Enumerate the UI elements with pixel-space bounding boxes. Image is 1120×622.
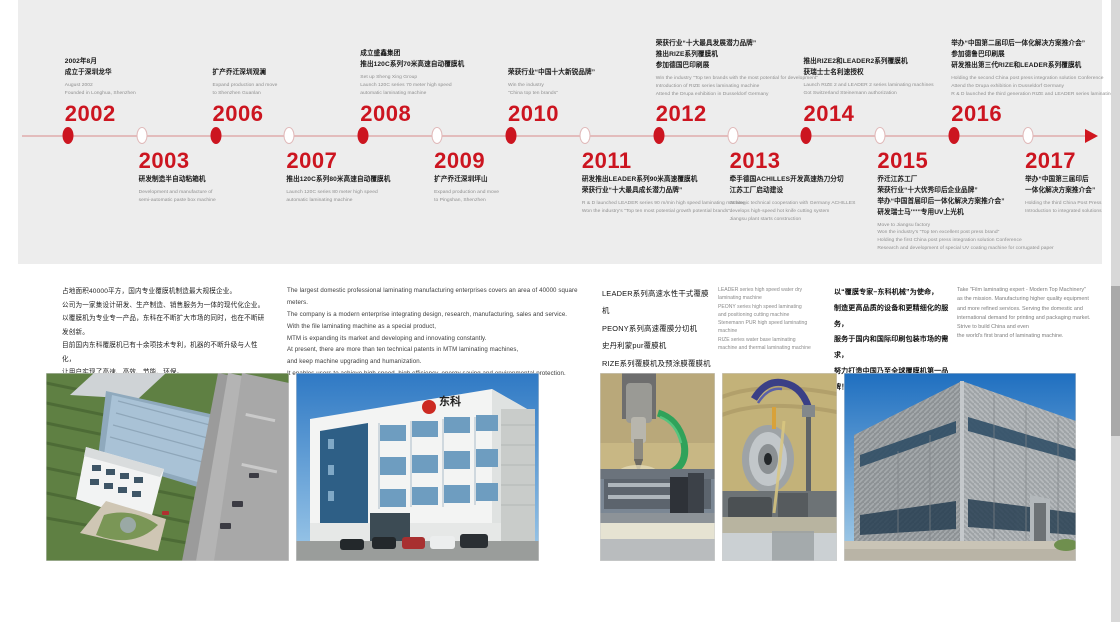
timeline-year-label: 2016 xyxy=(951,103,1120,125)
timeline-dot-2009[interactable] xyxy=(432,127,443,144)
timeline-arrow-icon xyxy=(1085,129,1098,143)
timeline-year-label: 2017 xyxy=(1025,150,1120,172)
timeline-en-line: Holding the first China post press integ… xyxy=(877,237,1087,245)
timeline-cn-line: 参加德鲁巴印刷展 xyxy=(951,50,1120,61)
office-building-photo: 东科 xyxy=(296,373,539,561)
band-left-margin xyxy=(0,0,18,264)
content-area: 占地面积40000平方，国内专业覆膜机制造最大规模企业。公司为一家集设计研发、生… xyxy=(0,264,1120,622)
timeline-en-line: Won the industry's "Top ten excellent po… xyxy=(877,229,1087,237)
cnc-milling-photo xyxy=(600,373,715,561)
about-en-line: MTM is expanding its market and developi… xyxy=(287,333,587,345)
timeline-en-line: Move to Jiangsu factory xyxy=(877,222,1087,230)
grinding-machine-photo xyxy=(722,373,837,561)
timeline-cn-line: 2002年8月 xyxy=(65,57,275,68)
timeline-axis xyxy=(22,135,1085,137)
timeline-entry-en: Holding the third China Post PressIntrod… xyxy=(1025,200,1120,216)
company-profile-page: 2002年8月成立于深圳龙华August 2002Founded in Long… xyxy=(0,0,1120,622)
timeline-en-line: Holding the second China post press inte… xyxy=(951,75,1120,83)
products-en-line: LEADER series high speed water dry xyxy=(718,286,823,294)
timeline-dot-2014[interactable] xyxy=(801,127,812,144)
timeline-entry-cn: 举办“中国第二届印后一体化解决方案推介会”参加德鲁巴印刷展研发推出第三代RIZE… xyxy=(951,39,1120,72)
about-cn-line: 以覆膜机为专业专一产品，东科在不断扩大市场的同时，也在不断研发创新。 xyxy=(62,312,267,339)
timeline-en-line: Research and development of special UV c… xyxy=(877,245,1087,253)
timeline-cn-line: 荣获行业“十大最具发展潜力品牌” xyxy=(656,39,866,50)
svg-text:东科: 东科 xyxy=(439,394,461,408)
timeline-entry-2017[interactable]: 2017举办“中国第三届印后一体化解决方案推介会”Holding the thi… xyxy=(1025,150,1120,216)
timeline-band: 2002年8月成立于深圳龙华August 2002Founded in Long… xyxy=(0,0,1120,264)
timeline-entry-2016[interactable]: 举办“中国第二届印后一体化解决方案推介会”参加德鲁巴印刷展研发推出第三代RIZE… xyxy=(951,39,1120,125)
about-en-line: With the file laminating machine as a sp… xyxy=(287,321,587,333)
mission-en-line: international demand for printing and pa… xyxy=(957,314,1107,323)
products-cn-line: LEADER系列高速水性干式覆膜机 xyxy=(602,285,712,320)
about-cn-line: 公司为一家集设计研发、生产制造、销售服务为一体的现代化企业。 xyxy=(62,299,267,313)
timeline-cn-line: 一体化解决方案推介会” xyxy=(1025,186,1120,197)
about-cn-block: 占地面积40000平方，国内专业覆膜机制造最大规模企业。公司为一家集设计研发、生… xyxy=(62,285,267,380)
timeline-dot-2015[interactable] xyxy=(875,127,886,144)
products-cn-line: PEONY系列高速覆膜分切机 xyxy=(602,320,712,337)
page-scrollbar-track[interactable] xyxy=(1111,0,1120,622)
mission-en-line: as the mission. Manufacturing higher qua… xyxy=(957,295,1107,304)
timeline-cn-line: 举办“中国第二届印后一体化解决方案推介会” xyxy=(951,39,1120,50)
about-en-line: The largest domestic professional lamina… xyxy=(287,285,587,309)
about-cn-line: 目前国内东科覆膜机已有十余项技术专利，机器的不断升级与人性化， xyxy=(62,339,267,366)
products-en-line: Stenemann PUR high speed laminating mach… xyxy=(718,319,823,336)
timeline-entry-en: Move to Jiangsu factoryWon the industry'… xyxy=(877,222,1087,254)
timeline-dot-2006[interactable] xyxy=(210,127,221,144)
about-en-block: The largest domestic professional lamina… xyxy=(287,285,587,380)
timeline-dot-2017[interactable] xyxy=(1023,127,1034,144)
products-en-line: laminating machine xyxy=(718,294,823,302)
about-cn-line: 占地面积40000平方，国内专业覆膜机制造最大规模企业。 xyxy=(62,285,267,299)
timeline-dot-2007[interactable] xyxy=(284,127,295,144)
timeline-en-line: Introduction to integrated solutions xyxy=(1025,208,1120,216)
about-en-line: and keep machine upgrading and humanizat… xyxy=(287,356,587,368)
mission-cn-line: 服务于国内和国际印刷包装市场的需求， xyxy=(834,332,952,364)
mission-en-line: Take "Film laminating expert - Modern To… xyxy=(957,286,1107,295)
timeline-dot-2010[interactable] xyxy=(506,127,517,144)
products-en-line: RIZE series water base laminating xyxy=(718,336,823,344)
timeline-en-line: Attend the Drupa exhibition in Dusseldor… xyxy=(951,83,1120,91)
timeline-dot-2013[interactable] xyxy=(727,127,738,144)
workshop-exterior-photo xyxy=(844,373,1076,561)
timeline-entry-en: Holding the second China post press inte… xyxy=(951,75,1120,99)
timeline-en-line: R & D launched the third generation RIZE… xyxy=(951,91,1120,99)
timeline-entry-cn: 举办“中国第三届印后一体化解决方案推介会” xyxy=(1025,175,1120,197)
timeline-dot-2003[interactable] xyxy=(136,127,147,144)
products-en-line: machine and thermal laminating machine xyxy=(718,344,823,352)
timeline-cn-line: 研发推出第三代RIZE和LEADER系列覆膜机 xyxy=(951,61,1120,72)
timeline-dot-2012[interactable] xyxy=(653,127,664,144)
mission-cn-line: 以“覆膜专家–东科机械”为使命， xyxy=(834,285,952,301)
mission-en-line: and more refined services. Serving the d… xyxy=(957,305,1107,314)
products-en-block: LEADER series high speed water drylamina… xyxy=(718,286,823,352)
products-cn-line: RIZE系列覆膜机及预涂膜覆膜机 xyxy=(602,355,712,372)
products-cn-block: LEADER系列高速水性干式覆膜机PEONY系列高速覆膜分切机史丹利蒙pur覆膜… xyxy=(602,285,712,372)
mission-en-line: Strive to build China and even xyxy=(957,323,1107,332)
timeline-dot-2008[interactable] xyxy=(358,127,369,144)
aerial-factory-photo xyxy=(46,373,289,561)
products-cn-line: 史丹利蒙pur覆膜机 xyxy=(602,337,712,354)
mission-en-line: the world's first brand of laminating ma… xyxy=(957,332,1107,341)
products-en-line: and positioning cutting machine xyxy=(718,311,823,319)
timeline-en-line: Holding the third China Post Press xyxy=(1025,200,1120,208)
mission-cn-line: 制造更高品质的设备和更精细化的服务， xyxy=(834,301,952,333)
timeline-cn-line: 成立盛鑫集团 xyxy=(360,49,570,60)
timeline-cn-line: 举办“中国第三届印后 xyxy=(1025,175,1120,186)
timeline-dot-2016[interactable] xyxy=(949,127,960,144)
about-en-line: The company is a modern enterprise integ… xyxy=(287,309,587,321)
about-en-line: At present, there are more than ten tech… xyxy=(287,344,587,356)
page-scrollbar-thumb[interactable] xyxy=(1111,286,1120,436)
timeline-dot-2011[interactable] xyxy=(579,127,590,144)
timeline-dot-2002[interactable] xyxy=(62,127,73,144)
products-en-line: PEONY series high speed laminating xyxy=(718,303,823,311)
mission-en-block: Take "Film laminating expert - Modern To… xyxy=(957,286,1107,342)
